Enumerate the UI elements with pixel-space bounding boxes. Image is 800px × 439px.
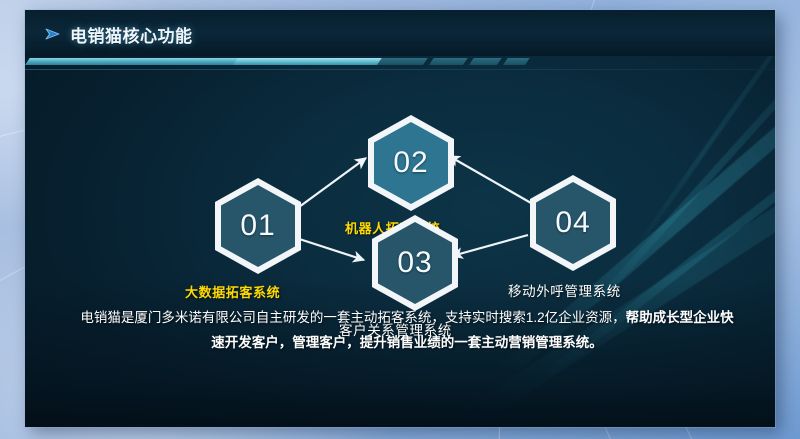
hex-node-04[interactable]: 04 [530,175,616,271]
arrow-04-to-03 [452,235,528,256]
hex-04-number: 04 [555,208,590,238]
divider-segment-4 [503,58,530,65]
description-normal-text: 电销猫是厦门多米诺有限公司自主研发的一套主动拓客系统，支持实时搜索1.2亿企业资… [80,310,625,325]
divider-segment-3 [469,58,502,65]
divider-segment-2 [429,58,468,65]
hex-node-02[interactable]: 02 [368,115,454,211]
hex-02-number: 02 [393,148,428,178]
header-divider [25,56,775,70]
title-row: 电销猫核心功能 [45,20,193,48]
hex-node-03[interactable]: 03 [372,215,458,311]
page-title: 电销猫核心功能 [70,22,193,47]
arrow-04-to-02 [449,156,531,203]
hex-04-label: 移动外呼管理系统 [508,280,621,300]
description-paragraph: 电销猫是厦门多米诺有限公司自主研发的一套主动拓客系统，支持实时搜索1.2亿企业资… [77,306,737,356]
header-band: 电销猫核心功能 [25,10,775,56]
chevron-right-icon [45,27,61,41]
hexagon-diagram: 01 大数据拓客系统 02 机器人拓客系统 03 客户关系管理系统 04 移动外… [25,70,775,305]
divider-segment-1 [377,58,428,65]
slide-canvas: 电销猫核心功能 [25,10,775,427]
hex-03-number: 03 [397,248,432,278]
hex-node-01[interactable]: 01 [215,178,301,274]
hex-01-number: 01 [240,211,275,241]
hex-01-label: 大数据拓客系统 [185,282,280,301]
